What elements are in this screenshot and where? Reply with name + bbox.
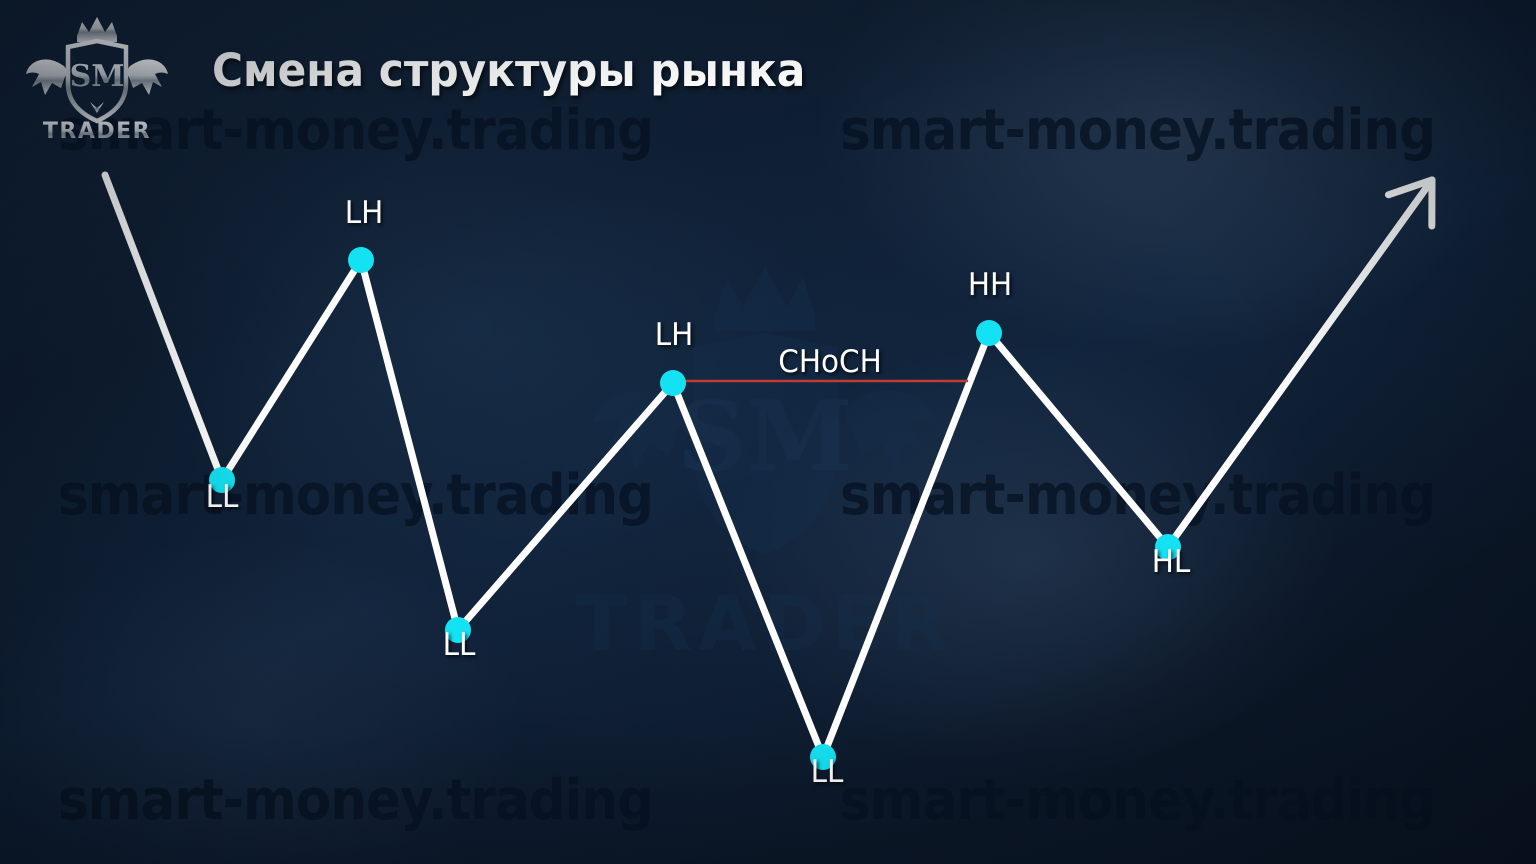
swing-point-label: LL (206, 479, 239, 515)
swing-point-label: LL (811, 754, 844, 790)
swing-point-marker[interactable] (976, 320, 1002, 346)
choch-label: CHoCH (778, 344, 881, 380)
swing-point-marker[interactable] (660, 370, 686, 396)
swing-point-markers (209, 247, 1181, 770)
swing-point-label: LH (655, 317, 694, 353)
swing-point-marker[interactable] (348, 247, 374, 273)
swing-point-label: HH (968, 267, 1012, 303)
trend-arrow-shaft (1168, 180, 1432, 547)
price-polyline (105, 175, 1432, 757)
swing-point-label: HL (1152, 544, 1191, 580)
swing-point-label: LL (443, 627, 476, 663)
trend-arrow-group (1168, 180, 1432, 547)
market-structure-chart (0, 0, 1536, 864)
price-polyline-group (105, 175, 1432, 757)
slide-canvas: smart-money.trading smart-money.trading … (0, 0, 1536, 864)
swing-point-label: LH (345, 195, 384, 231)
